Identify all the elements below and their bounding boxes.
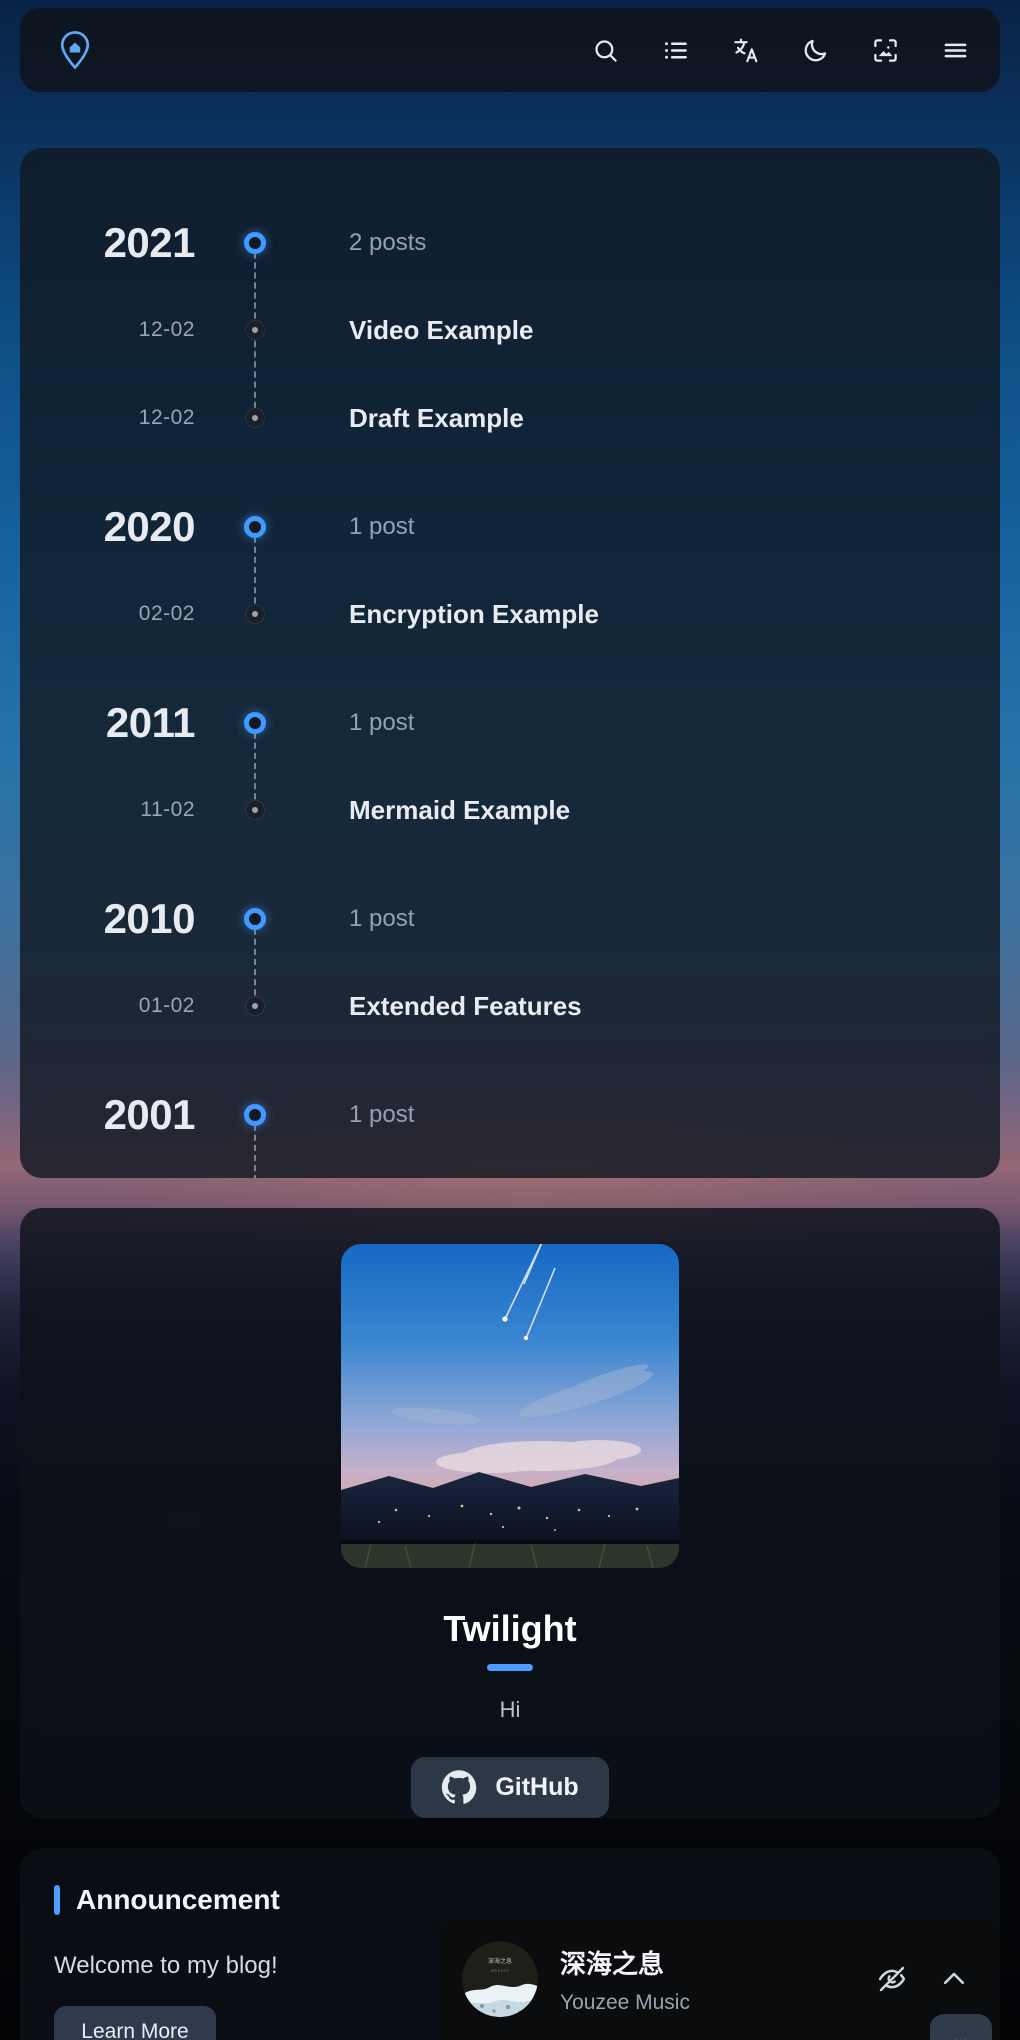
timeline-title-cell: Extended Features bbox=[285, 991, 1000, 1022]
github-button[interactable]: GitHub bbox=[411, 1757, 608, 1818]
github-button-label: GitHub bbox=[495, 1773, 578, 1802]
timeline-year-marker[interactable] bbox=[244, 516, 266, 538]
timeline-post-marker[interactable] bbox=[246, 997, 264, 1015]
timeline-year-label-cell: 2011 bbox=[20, 702, 225, 744]
timeline-rows: 20212 posts12-02Video Example12-02Draft … bbox=[20, 200, 1000, 1178]
timeline-axis bbox=[225, 962, 285, 1050]
profile-card: Twilight Hi GitHub bbox=[20, 1208, 1000, 1818]
timeline-year-count-cell: 1 post bbox=[285, 709, 1000, 737]
timeline-year-count-cell: 1 post bbox=[285, 1101, 1000, 1129]
announcement-title: Announcement bbox=[76, 1884, 280, 1916]
timeline-post-date: 11-02 bbox=[140, 798, 195, 821]
timeline-post-date: 01-02 bbox=[139, 994, 195, 1017]
translate-icon[interactable] bbox=[730, 35, 760, 65]
timeline-year-count-cell: 2 posts bbox=[285, 229, 1000, 257]
timeline-post-row[interactable]: 10-02Guide for Blog Template bbox=[20, 1158, 1000, 1178]
timeline-title-cell: Video Example bbox=[285, 315, 1000, 346]
announcement-header: Announcement bbox=[54, 1884, 966, 1916]
avatar[interactable] bbox=[341, 1244, 679, 1568]
profile-name: Twilight bbox=[443, 1608, 576, 1650]
timeline-axis bbox=[225, 1158, 285, 1178]
timeline-year-marker[interactable] bbox=[244, 712, 266, 734]
timeline-year-row: 20011 post bbox=[20, 1072, 1000, 1158]
timeline-post-row[interactable]: 02-02Encryption Example bbox=[20, 570, 1000, 658]
track-meta: 深海之息 Youzee Music bbox=[560, 1944, 850, 2015]
timeline-year-row: 20101 post bbox=[20, 876, 1000, 962]
timeline-post-marker[interactable] bbox=[246, 409, 264, 427]
album-cover[interactable]: 深海之息 B R E A T H bbox=[462, 1941, 538, 2017]
announcement-learn-more-button[interactable]: Learn More bbox=[54, 2006, 216, 2040]
search-icon[interactable] bbox=[590, 35, 620, 65]
timeline-axis bbox=[225, 570, 285, 658]
timeline-post-date: 12-02 bbox=[139, 406, 195, 429]
timeline-post-marker[interactable] bbox=[246, 605, 264, 623]
timeline-post-title[interactable]: Draft Example bbox=[349, 403, 524, 433]
music-player: 深海之息 B R E A T H 深海之息 Youzee Music bbox=[440, 1918, 1000, 2040]
timeline-date-cell: 02-02 bbox=[20, 602, 225, 626]
track-artist: Youzee Music bbox=[560, 1991, 850, 2015]
timeline-post-row[interactable]: 01-02Extended Features bbox=[20, 962, 1000, 1050]
github-icon bbox=[441, 1769, 477, 1805]
timeline-date-cell: 11-02 bbox=[20, 798, 225, 822]
timeline-year-marker[interactable] bbox=[244, 908, 266, 930]
timeline-year-label: 2010 bbox=[104, 895, 195, 942]
timeline-year-label-cell: 2020 bbox=[20, 506, 225, 548]
timeline-year-label-cell: 2001 bbox=[20, 1094, 225, 1136]
timeline-year-row: 20212 posts bbox=[20, 200, 1000, 286]
timeline-post-title[interactable]: Mermaid Example bbox=[349, 795, 570, 825]
archive-timeline-card: 20212 posts12-02Video Example12-02Draft … bbox=[20, 148, 1000, 1178]
timeline-date-cell: 01-02 bbox=[20, 994, 225, 1018]
timeline-date-cell: 12-02 bbox=[20, 318, 225, 342]
timeline-post-title[interactable]: Extended Features bbox=[349, 991, 582, 1021]
list-icon[interactable] bbox=[660, 35, 690, 65]
timeline-axis bbox=[225, 374, 285, 462]
timeline-post-date: 02-02 bbox=[139, 602, 195, 625]
timeline-post-count: 1 post bbox=[349, 1101, 414, 1128]
timeline-axis bbox=[225, 766, 285, 854]
track-title: 深海之息 bbox=[560, 1944, 850, 1981]
timeline-date-cell: 12-02 bbox=[20, 406, 225, 430]
timeline-post-date: 12-02 bbox=[139, 318, 195, 341]
profile-bio: Hi bbox=[500, 1697, 521, 1723]
timeline-title-cell: Mermaid Example bbox=[285, 795, 1000, 826]
timeline-post-marker[interactable] bbox=[246, 321, 264, 339]
timeline-year-row: 20201 post bbox=[20, 484, 1000, 570]
timeline-year-marker[interactable] bbox=[244, 1104, 266, 1126]
site-header bbox=[20, 8, 1000, 92]
timeline-post-row[interactable]: 12-02Video Example bbox=[20, 286, 1000, 374]
timeline-post-count: 1 post bbox=[349, 905, 414, 932]
timeline-year-label-cell: 2010 bbox=[20, 898, 225, 940]
timeline-post-marker[interactable] bbox=[246, 801, 264, 819]
timeline-year-marker[interactable] bbox=[244, 232, 266, 254]
close-button[interactable]: × bbox=[930, 2014, 992, 2040]
timeline-post-count: 1 post bbox=[349, 513, 414, 540]
chevron-up-icon[interactable] bbox=[934, 1959, 974, 1999]
timeline-year-count-cell: 1 post bbox=[285, 513, 1000, 541]
timeline-post-row[interactable]: 11-02Mermaid Example bbox=[20, 766, 1000, 854]
timeline-post-count: 2 posts bbox=[349, 229, 426, 256]
timeline-year-label: 2021 bbox=[104, 219, 195, 266]
svg-text:B R E A T H: B R E A T H bbox=[492, 1969, 510, 1973]
timeline-post-count: 1 post bbox=[349, 709, 414, 736]
timeline-title-cell: Draft Example bbox=[285, 403, 1000, 434]
timeline-title-cell: Encryption Example bbox=[285, 599, 1000, 630]
moon-icon[interactable] bbox=[800, 35, 830, 65]
accent-bar bbox=[54, 1885, 60, 1915]
menu-icon[interactable] bbox=[940, 35, 970, 65]
timeline-year-label-cell: 2021 bbox=[20, 222, 225, 264]
timeline-post-title[interactable]: Video Example bbox=[349, 315, 534, 345]
timeline-year-label: 2020 bbox=[104, 503, 195, 550]
timeline-year-count-cell: 1 post bbox=[285, 905, 1000, 933]
timeline-post-title[interactable]: Encryption Example bbox=[349, 599, 599, 629]
svg-text:深海之息: 深海之息 bbox=[488, 1957, 512, 1965]
image-icon[interactable] bbox=[870, 35, 900, 65]
timeline-post-row[interactable]: 12-02Draft Example bbox=[20, 374, 1000, 462]
timeline-year-row: 20111 post bbox=[20, 680, 1000, 766]
eye-off-icon[interactable] bbox=[872, 1959, 912, 1999]
header-nav-icons bbox=[590, 35, 970, 65]
name-underline bbox=[487, 1664, 533, 1671]
timeline-year-label: 2001 bbox=[104, 1091, 195, 1138]
timeline-year-label: 2011 bbox=[106, 699, 195, 746]
home-pin-icon[interactable] bbox=[58, 30, 92, 70]
